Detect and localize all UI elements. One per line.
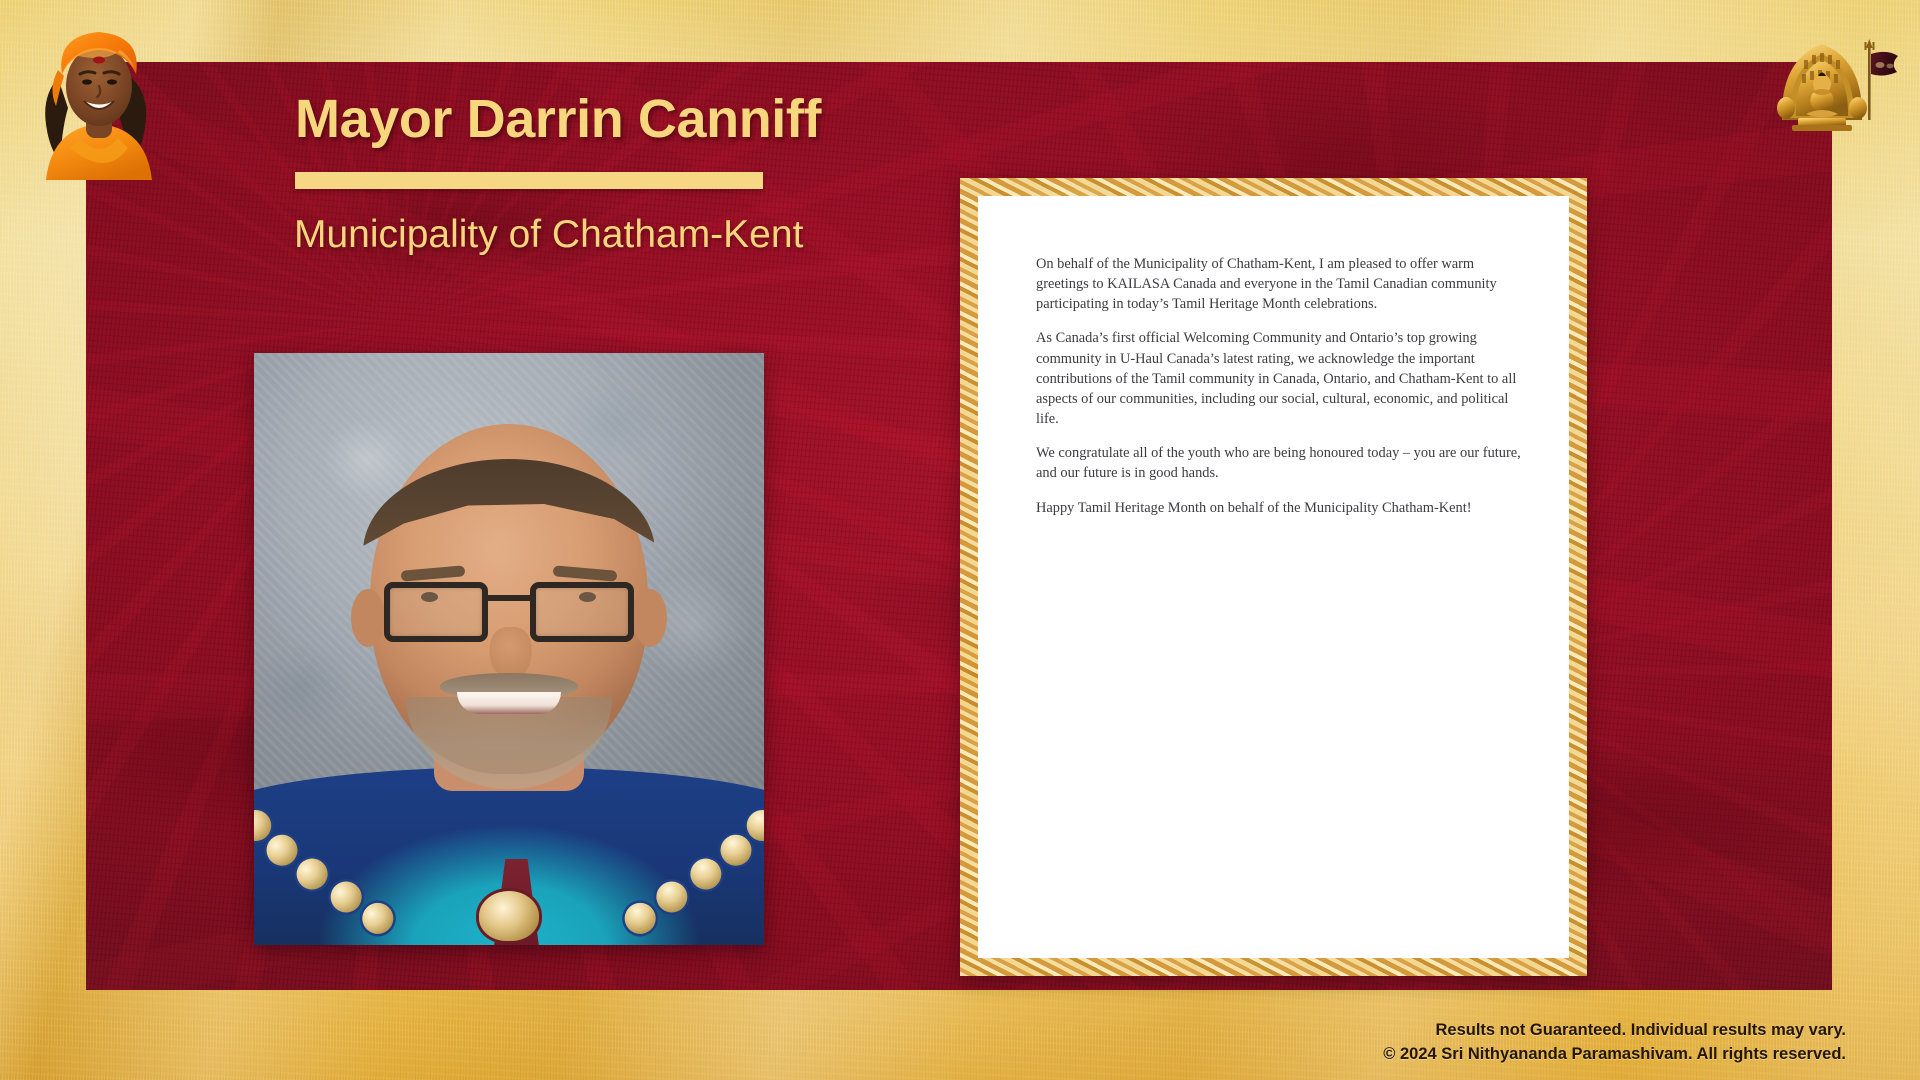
letter-body: On behalf of the Municipality of Chatham… bbox=[1036, 254, 1525, 518]
page-title: Mayor Darrin Canniff bbox=[295, 88, 821, 150]
portrait-eyebrow-right bbox=[553, 565, 618, 582]
presentation-slide: Mayor Darrin Canniff Municipality of Cha… bbox=[0, 0, 1920, 1080]
eyeglass-lens-right bbox=[530, 582, 634, 642]
mayor-portrait-photo bbox=[254, 353, 764, 945]
portrait-eyebrow-left bbox=[401, 565, 466, 582]
footer-line-results: Results not Guaranteed. Individual resul… bbox=[1383, 1019, 1846, 1042]
deity-statue-flag-icon bbox=[1768, 24, 1898, 144]
page-subtitle: Municipality of Chatham-Kent bbox=[294, 210, 934, 259]
letter-paragraph: On behalf of the Municipality of Chatham… bbox=[1036, 254, 1525, 314]
letter-paragraph: Happy Tamil Heritage Month on behalf of … bbox=[1036, 498, 1525, 518]
eyeglass-bridge bbox=[488, 595, 530, 601]
letter-paragraph: As Canada’s first official Welcoming Com… bbox=[1036, 328, 1525, 429]
letter-gold-frame: On behalf of the Municipality of Chatham… bbox=[960, 178, 1587, 976]
footer-disclaimer: Results not Guaranteed. Individual resul… bbox=[1383, 1019, 1846, 1066]
portrait-chain-medallion bbox=[479, 891, 539, 941]
letter-page: On behalf of the Municipality of Chatham… bbox=[978, 196, 1569, 958]
portrait-ear-right bbox=[633, 589, 667, 647]
guru-portrait-icon bbox=[28, 12, 170, 180]
footer-line-copyright: © 2024 Sri Nithyananda Paramashivam. All… bbox=[1383, 1043, 1846, 1066]
portrait-nose bbox=[490, 627, 532, 679]
title-underline-rule bbox=[295, 172, 763, 189]
portrait-ear-left bbox=[351, 589, 385, 647]
eyeglass-lens-left bbox=[384, 582, 488, 642]
portrait-smile bbox=[457, 692, 561, 714]
portrait-head bbox=[370, 424, 648, 774]
letter-paragraph: We congratulate all of the youth who are… bbox=[1036, 443, 1525, 483]
